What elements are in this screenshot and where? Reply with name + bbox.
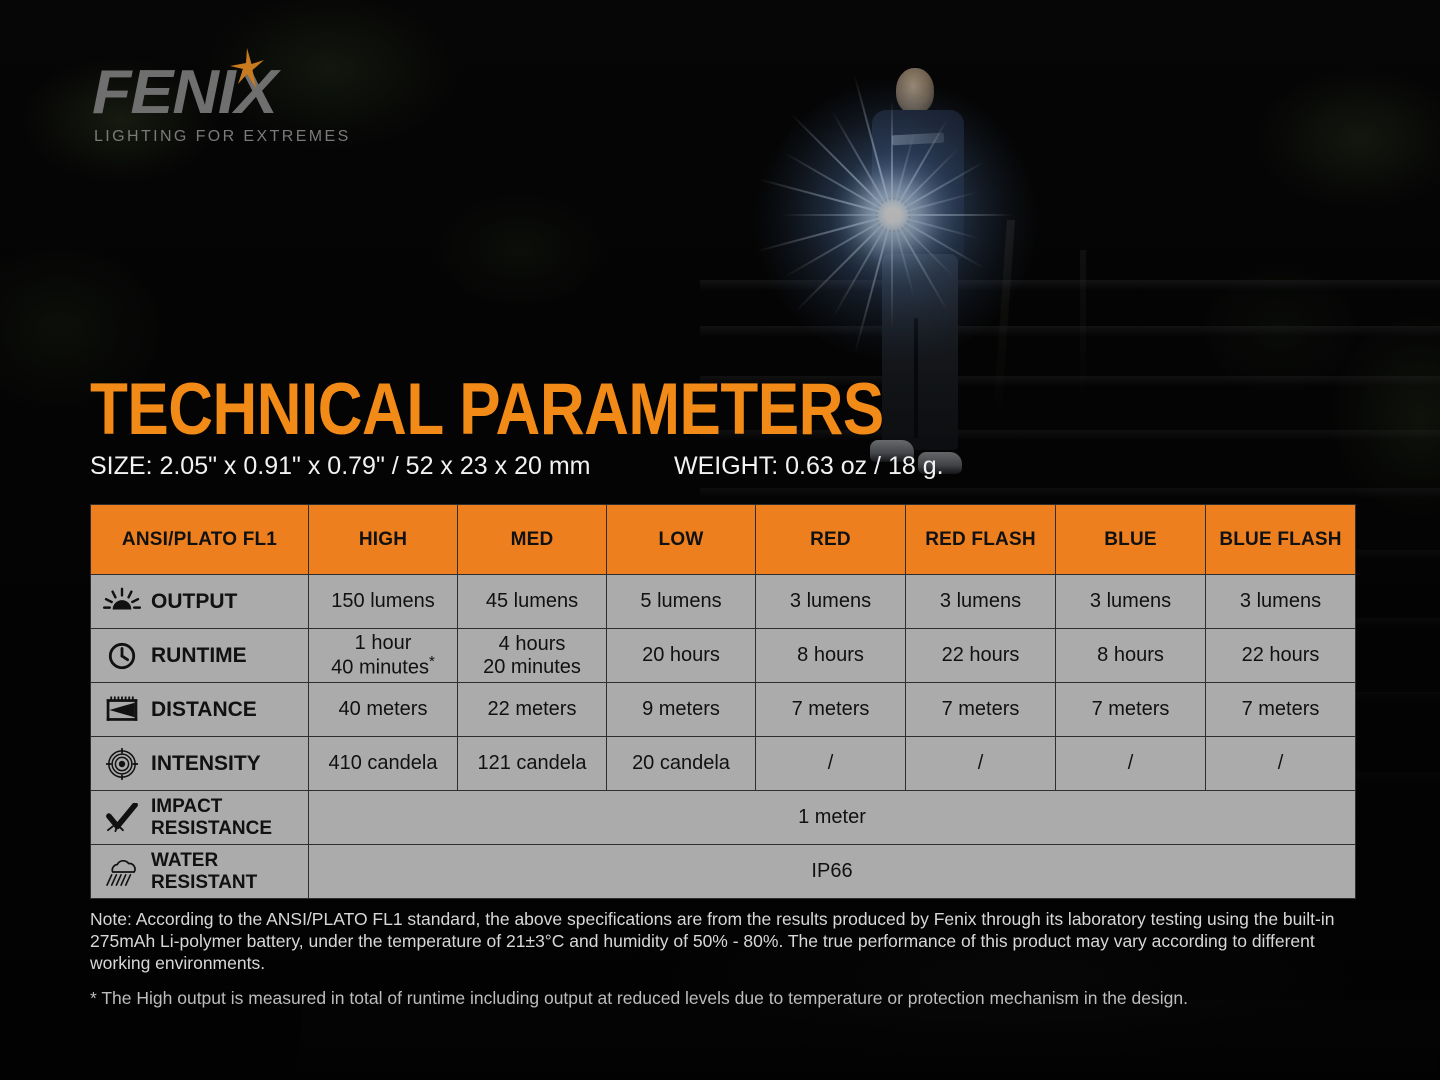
brand-tagline: LIGHTING FOR EXTREMES [94,128,351,146]
row-label-distance: DISTANCE [91,683,309,737]
page-title: TECHNICAL PARAMETERS [90,368,884,452]
cell-runtime-low: 20 hours [607,629,756,683]
runtime-high-line1: 1 hour [355,632,412,654]
table-header-row: ANSI/PLATO FL1 HIGH MED LOW RED RED FLAS… [91,505,1356,575]
cell-runtime-red-flash: 22 hours [906,629,1056,683]
col-header-red-flash: RED FLASH [906,505,1056,575]
water-label-line1: WATER [151,850,218,871]
row-label-runtime: RUNTIME [91,629,309,683]
cell-distance-med: 22 meters [458,683,607,737]
table-row-intensity: INTENSITY 410 candela 121 candela 20 can… [91,737,1356,791]
fenix-logo: FENIX LIGHTING FOR EXTREMES [92,62,392,152]
col-header-blue: BLUE [1056,505,1206,575]
spec-size: SIZE: 2.05" x 0.91" x 0.79" / 52 x 23 x … [90,452,590,481]
sunburst-icon [101,585,143,619]
runtime-high-line2: 40 minutes [331,657,429,679]
cell-distance-low: 9 meters [607,683,756,737]
cell-output-blue-flash: 3 lumens [1206,575,1356,629]
cell-output-med: 45 lumens [458,575,607,629]
impact-label-line2: RESISTANCE [151,818,272,839]
clock-icon [101,639,143,673]
spec-weight: WEIGHT: 0.63 oz / 18 g. [674,452,944,481]
footnotes: Note: According to the ANSI/PLATO FL1 st… [90,908,1354,1009]
cell-runtime-blue-flash: 22 hours [1206,629,1356,683]
cell-output-low: 5 lumens [607,575,756,629]
water-label-line2: RESISTANT [151,872,257,893]
footnote-marker: * [429,653,435,670]
cell-distance-red: 7 meters [756,683,906,737]
target-icon [101,747,143,781]
cell-distance-red-flash: 7 meters [906,683,1056,737]
row-label-output: OUTPUT [91,575,309,629]
cell-runtime-med: 4 hours 20 minutes [458,629,607,683]
runtime-med-line2: 20 minutes [483,656,581,678]
table-row-distance: DISTANCE 40 meters 22 meters 9 meters 7 … [91,683,1356,737]
beam-distance-icon [101,693,143,727]
cell-intensity-red: / [756,737,906,791]
col-header-high: HIGH [309,505,458,575]
cell-runtime-high: 1 hour 40 minutes* [309,629,458,683]
col-header-standard: ANSI/PLATO FL1 [91,505,309,575]
table-row-output: OUTPUT 150 lumens 45 lumens 5 lumens 3 l… [91,575,1356,629]
row-label-water-resistant: WATER RESISTANT [91,845,309,899]
row-label-text: RUNTIME [151,645,247,667]
row-label-text: INTENSITY [151,753,261,775]
cell-output-blue: 3 lumens [1056,575,1206,629]
cell-intensity-red-flash: / [906,737,1056,791]
cell-intensity-blue: / [1056,737,1206,791]
cell-distance-blue-flash: 7 meters [1206,683,1356,737]
rain-cloud-icon [101,855,143,889]
cell-intensity-low: 20 candela [607,737,756,791]
col-header-red: RED [756,505,906,575]
impact-check-icon [101,801,143,835]
cell-runtime-red: 8 hours [756,629,906,683]
row-label-intensity: INTENSITY [91,737,309,791]
row-label-text: IMPACT RESISTANCE [151,796,272,839]
cell-output-red: 3 lumens [756,575,906,629]
note-standard: Note: According to the ANSI/PLATO FL1 st… [90,908,1354,974]
cell-runtime-blue: 8 hours [1056,629,1206,683]
technical-parameters-table: ANSI/PLATO FL1 HIGH MED LOW RED RED FLAS… [90,504,1356,899]
impact-label-line1: IMPACT [151,796,222,817]
row-label-text: DISTANCE [151,699,257,721]
cell-intensity-med: 121 candela [458,737,607,791]
row-label-impact-resistance: IMPACT RESISTANCE [91,791,309,845]
cell-water-resistant-value: IP66 [309,845,1356,899]
star-spark-icon [230,48,264,88]
note-asterisk: * The High output is measured in total o… [90,987,1354,1009]
cell-intensity-high: 410 candela [309,737,458,791]
col-header-blue-flash: BLUE FLASH [1206,505,1356,575]
col-header-low: LOW [607,505,756,575]
table-row-runtime: RUNTIME 1 hour 40 minutes* 4 hours 20 mi… [91,629,1356,683]
table-row-impact-resistance: IMPACT RESISTANCE 1 meter [91,791,1356,845]
cell-distance-high: 40 meters [309,683,458,737]
cell-distance-blue: 7 meters [1056,683,1206,737]
row-label-text: WATER RESISTANT [151,850,257,893]
row-label-text: OUTPUT [151,591,237,613]
runtime-med-line1: 4 hours [499,633,566,655]
cell-output-high: 150 lumens [309,575,458,629]
cell-impact-resistance-value: 1 meter [309,791,1356,845]
table-row-water-resistant: WATER RESISTANT IP66 [91,845,1356,899]
cell-output-red-flash: 3 lumens [906,575,1056,629]
cell-intensity-blue-flash: / [1206,737,1356,791]
col-header-med: MED [458,505,607,575]
